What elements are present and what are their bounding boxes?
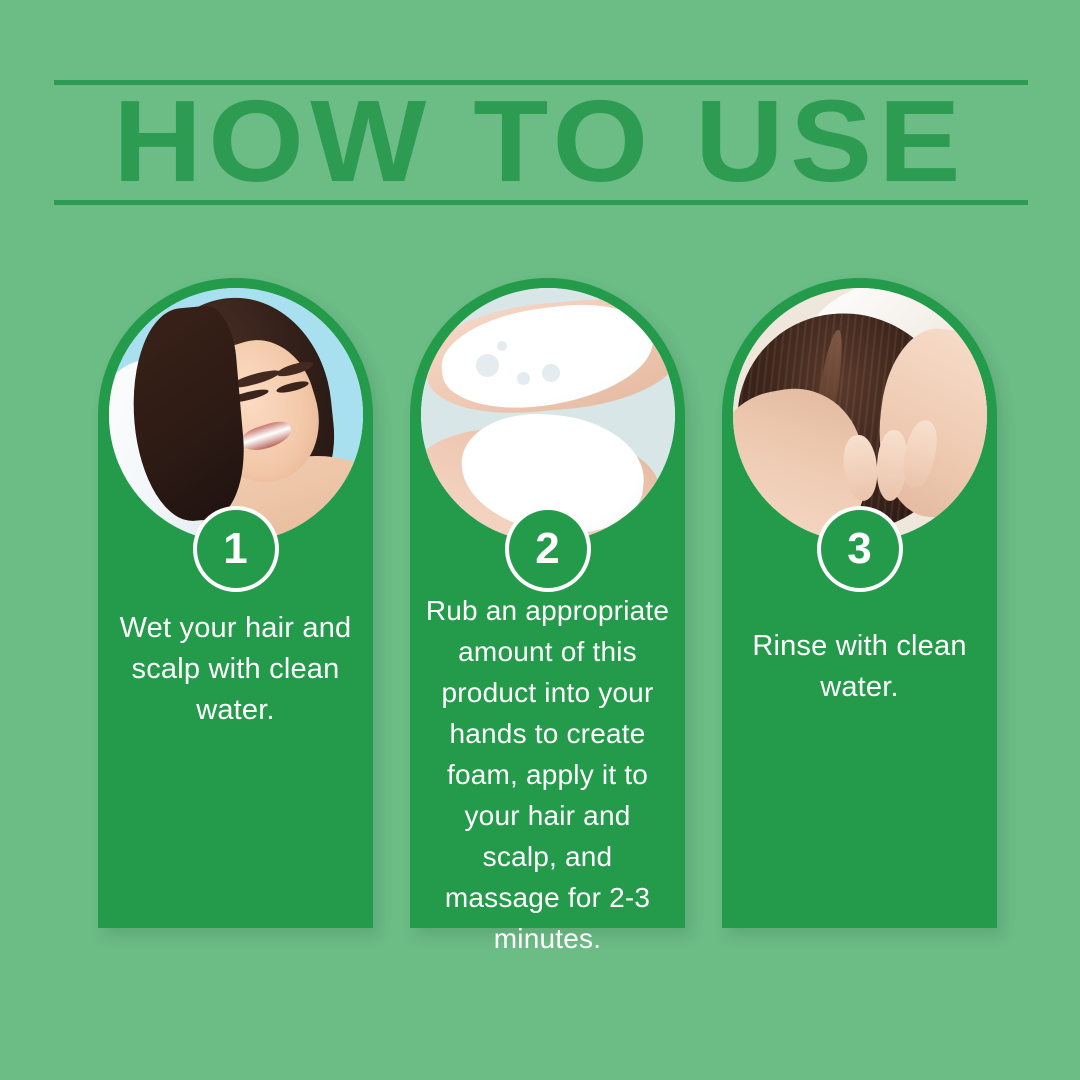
scalp-massage-photo <box>733 288 987 542</box>
step-card-2: 2 Rub an appropriate amount of this prod… <box>410 278 685 928</box>
step-caption-2: Rub an appropriate amount of this produc… <box>424 590 671 959</box>
bubble-shape <box>542 364 560 382</box>
header-rule-bottom <box>54 200 1028 205</box>
page-title: HOW TO USE <box>0 84 1080 198</box>
step-card-1: 1 Wet your hair and scalp with clean wat… <box>98 278 373 928</box>
header: HOW TO USE <box>0 0 1080 240</box>
foam-in-hands-photo <box>421 288 675 542</box>
step-number-badge-1: 1 <box>193 506 279 592</box>
woman-with-wet-hair-photo <box>109 288 363 542</box>
bubble-shape <box>517 372 530 385</box>
step-caption-1: Wet your hair and scalp with clean water… <box>112 608 359 731</box>
step-number-badge-2: 2 <box>505 506 591 592</box>
steps-row: 1 Wet your hair and scalp with clean wat… <box>98 278 997 928</box>
step-3-photo <box>733 288 987 542</box>
foam-shape <box>436 296 660 418</box>
bubble-shape <box>476 354 499 377</box>
step-card-3: 3 Rinse with clean water. <box>722 278 997 928</box>
step-1-photo <box>109 288 363 542</box>
step-number-badge-3: 3 <box>817 506 903 592</box>
step-2-photo <box>421 288 675 542</box>
step-caption-3: Rinse with clean water. <box>736 626 983 708</box>
